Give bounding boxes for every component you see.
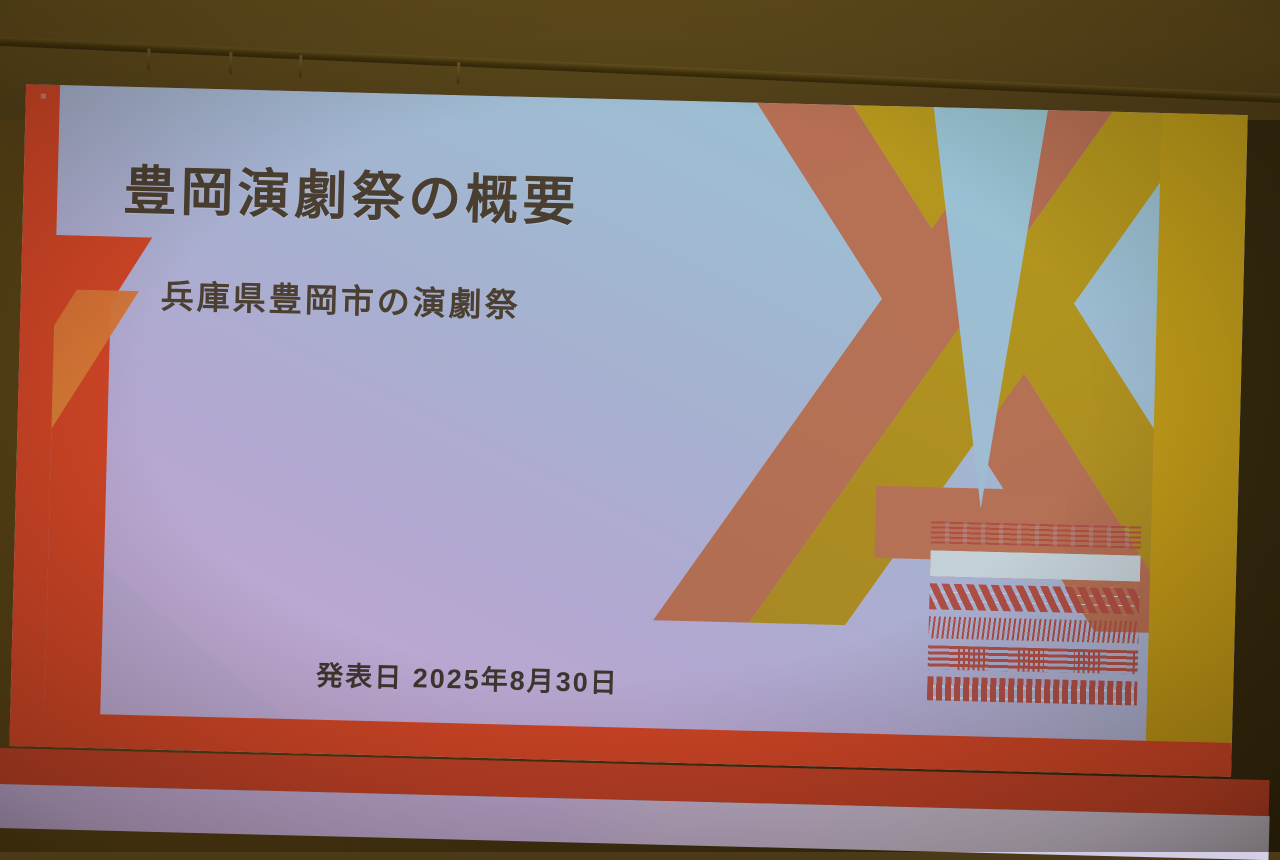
slide-date-line: 発表日 2025年8月30日 xyxy=(316,654,620,701)
pattern-band-wavy-lines xyxy=(931,521,1141,548)
presentation-slide: 豊岡演劇祭の概要 兵庫県豊岡市の演劇祭 発表日 2025年8月30日 xyxy=(9,84,1247,777)
projection-screen: 豊岡演劇祭の概要 兵庫県豊岡市の演劇祭 発表日 2025年8月30日 xyxy=(0,50,1266,841)
slide-frame-right xyxy=(1145,113,1248,777)
screen-corner-mark xyxy=(41,94,46,99)
pattern-band-lens-lattice xyxy=(930,550,1141,581)
slide-title: 豊岡演劇祭の概要 xyxy=(123,149,581,237)
pattern-band-brick-ticks xyxy=(927,676,1138,705)
decorative-pattern-block xyxy=(927,521,1142,716)
pattern-band-vertical-strokes xyxy=(928,616,1138,643)
slide-subtitle: 兵庫県豊岡市の演劇祭 xyxy=(160,270,521,327)
pattern-band-slanted-dashes xyxy=(929,583,1140,614)
pattern-band-stripe-blocks xyxy=(928,645,1139,674)
